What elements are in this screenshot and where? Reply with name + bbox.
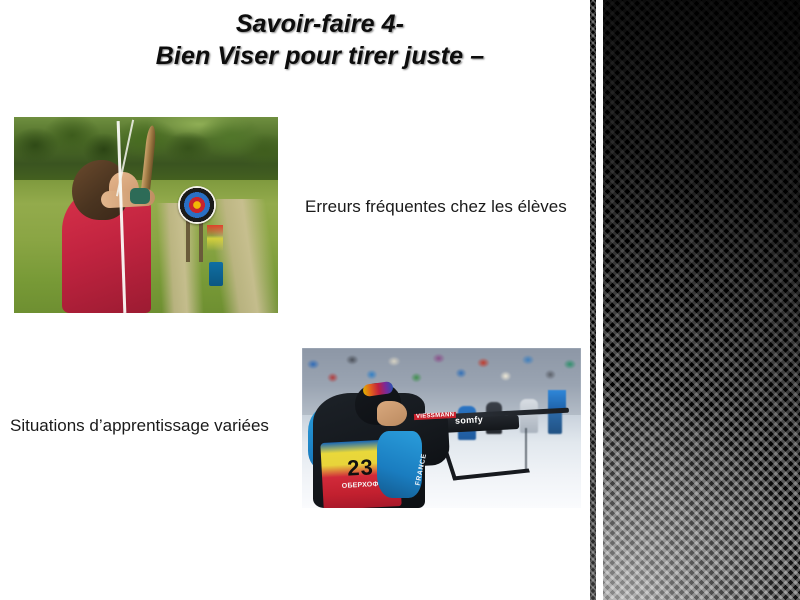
carbon-panel-shading bbox=[603, 0, 800, 600]
biathlon-spectator bbox=[520, 399, 538, 433]
title-line-1: Savoir-faire 4- bbox=[60, 8, 580, 40]
biathlon-athlete-face bbox=[377, 401, 407, 426]
title-line-2: Bien Viser pour tirer juste – bbox=[60, 40, 580, 72]
text-situations-apprentissage: Situations d’apprentissage variées bbox=[10, 415, 269, 437]
archery-target-stand bbox=[199, 219, 203, 262]
archery-target-stand bbox=[186, 219, 190, 262]
vertical-accent-stripe bbox=[590, 0, 596, 600]
text-errors-frequentes: Erreurs fréquentes chez les élèves bbox=[305, 196, 567, 218]
archery-photo bbox=[14, 117, 278, 313]
page-title: Savoir-faire 4- Bien Viser pour tirer ju… bbox=[60, 8, 580, 72]
archery-arrow-fletching bbox=[207, 225, 223, 251]
biathlon-rifle-support bbox=[441, 434, 529, 480]
slide-canvas: Savoir-faire 4- Bien Viser pour tirer ju… bbox=[0, 0, 800, 600]
biathlon-athlete-arm-right bbox=[377, 431, 422, 498]
biathlon-sponsor-somfy: somfy bbox=[455, 414, 484, 425]
biathlon-photo: 23 ОБЕРХОФ VIESSMANN somfy FRANCE bbox=[302, 348, 581, 508]
archery-quiver bbox=[209, 262, 223, 286]
archery-target-far bbox=[178, 186, 216, 224]
carbon-texture-panel bbox=[603, 0, 800, 600]
archery-arm-guard bbox=[130, 188, 150, 204]
